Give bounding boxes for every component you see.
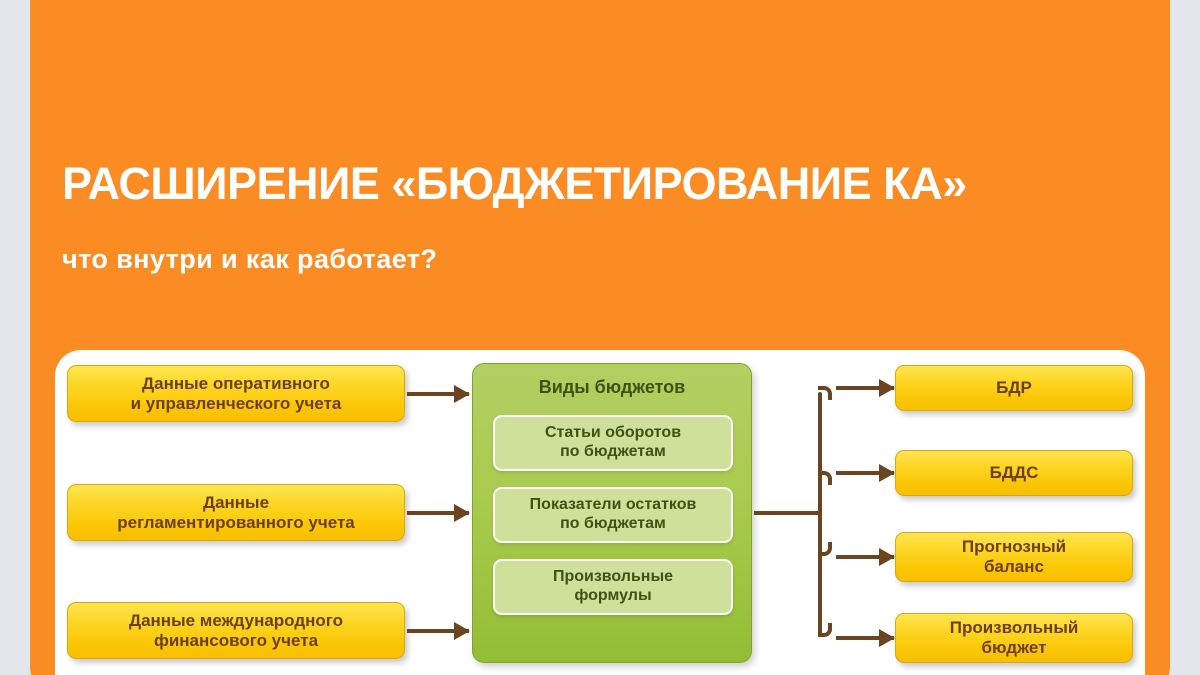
arrow-head-icon — [879, 548, 895, 566]
diagram-panel: Данные оперативногои управленческого уче… — [55, 350, 1145, 675]
arrow-head-icon — [879, 379, 895, 397]
connector-elbow-3 — [818, 542, 832, 556]
center-item-balance-indicators: Показатели остатковпо бюджетам — [493, 487, 733, 543]
connector-elbow-4 — [818, 623, 832, 637]
connector-stem — [754, 511, 822, 515]
orange-card-folder-notch — [144, 0, 276, 18]
connector-elbow-2 — [818, 471, 832, 485]
output-box-bdds: БДДС — [895, 450, 1133, 496]
arrow-head-icon — [879, 629, 895, 647]
center-box-title: Виды бюджетов — [473, 377, 751, 398]
input-box-international-financial: Данные международногофинансового учета — [67, 602, 405, 659]
output-box-bdr: БДР — [895, 365, 1133, 411]
slide-root: РАСШИРЕНИЕ «БЮДЖЕТИРОВАНИЕ КА» что внутр… — [0, 0, 1200, 675]
center-item-turnover-articles: Статьи оборотовпо бюджетам — [493, 415, 733, 471]
center-box-budget-types: Виды бюджетов Статьи оборотовпо бюджетам… — [472, 363, 752, 663]
arrow-head-icon — [879, 464, 895, 482]
arrow-head-icon — [454, 622, 470, 640]
arrow-head-icon — [454, 504, 470, 522]
input-box-regulated-accounting: Данныерегламентированного учета — [67, 484, 405, 541]
arrow-head-icon — [454, 385, 470, 403]
center-item-custom-formulas: Произвольныеформулы — [493, 559, 733, 615]
input-box-operational-management: Данные оперативногои управленческого уче… — [67, 365, 405, 422]
page-subtitle: что внутри и как работает? — [62, 244, 437, 275]
connector-elbow-1 — [818, 386, 832, 400]
output-box-forecast-balance: Прогнозныйбаланс — [895, 532, 1133, 582]
connector-trunk — [818, 392, 822, 636]
page-title: РАСШИРЕНИЕ «БЮДЖЕТИРОВАНИЕ КА» — [62, 160, 1142, 207]
output-box-custom-budget: Произвольныйбюджет — [895, 613, 1133, 663]
